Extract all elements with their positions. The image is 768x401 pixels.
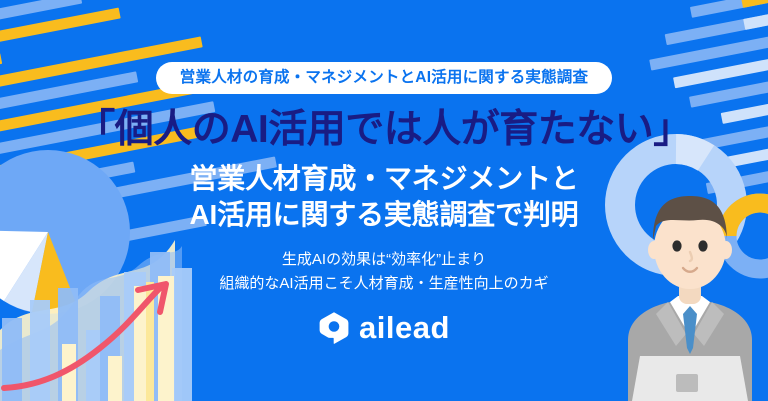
survey-badge: 営業人材の育成・マネジメントとAI活用に関する実態調査	[156, 62, 612, 94]
banner-content: 営業人材の育成・マネジメントとAI活用に関する実態調査 「個人のAI活用では人が…	[0, 0, 768, 401]
subheadline-line-1: 営業人材育成・マネジメントと	[189, 161, 578, 197]
body-copy: 生成AIの効果は“効率化”止まり 組織的なAI活用こそ人材育成・生産性向上のカギ	[219, 248, 548, 295]
ailead-hexagon-mark	[318, 311, 350, 345]
subheadline: 営業人材育成・マネジメントと AI活用に関する実態調査で判明	[189, 161, 578, 233]
body-copy-line-2: 組織的なAI活用こそ人材育成・生産性向上のカギ	[219, 272, 548, 295]
body-copy-line-1: 生成AIの効果は“効率化”止まり	[219, 248, 548, 271]
ailead-logo-text: ailead	[359, 312, 450, 343]
page-title: 「個人のAI活用では人が育たない」	[76, 108, 692, 152]
ailead-logo: ailead	[318, 311, 450, 345]
survey-announcement-banner: 営業人材の育成・マネジメントとAI活用に関する実態調査 「個人のAI活用では人が…	[0, 0, 768, 401]
subheadline-line-2: AI活用に関する実態調査で判明	[189, 197, 578, 233]
